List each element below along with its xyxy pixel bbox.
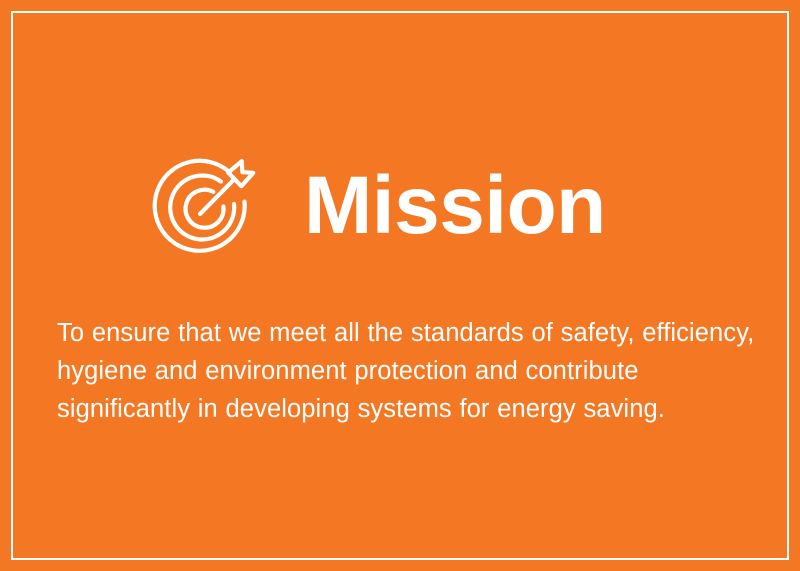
page-title: Mission: [304, 163, 606, 249]
mission-slide: Mission To ensure that we meet all the s…: [0, 0, 800, 571]
mission-statement-text: To ensure that we meet all the standards…: [57, 314, 757, 428]
slide-border-frame: [11, 11, 789, 560]
mission-heading-row: Mission: [0, 152, 800, 260]
target-dart-icon: [152, 152, 264, 260]
